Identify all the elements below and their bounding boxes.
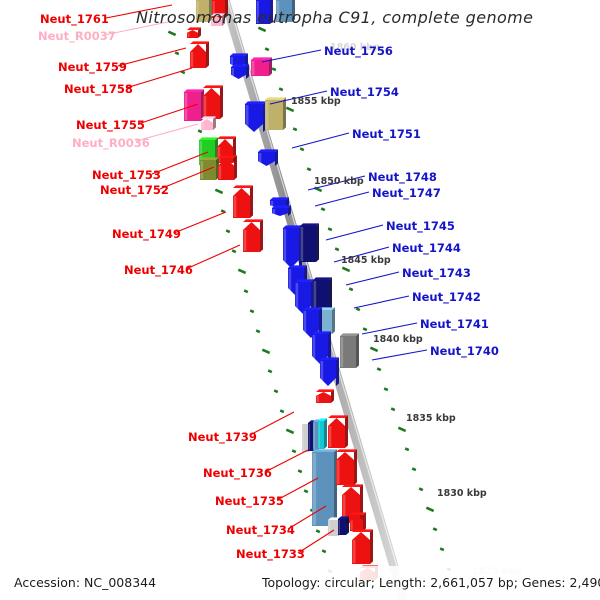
ruler-tick: [274, 389, 279, 393]
ruler-tick: [419, 487, 424, 491]
ruler-tick: [262, 348, 270, 354]
gene-label-neut_1761[interactable]: Neut_1761: [40, 12, 109, 26]
gene-label-neut_1755[interactable]: Neut_1755: [76, 118, 145, 132]
gene-label-neut_1734[interactable]: Neut_1734: [226, 523, 295, 537]
ruler-tick: [384, 387, 389, 391]
gene-label-neut_1742[interactable]: Neut_1742: [412, 290, 481, 304]
label-leader-line: [126, 68, 192, 88]
gene-label-neut_1751[interactable]: Neut_1751: [352, 127, 421, 141]
gene-label-neut_r0036[interactable]: Neut_R0036: [72, 136, 150, 150]
ruler-tick: [298, 469, 303, 473]
gene-glyph[interactable]: [300, 223, 319, 262]
ruler-tick: [370, 346, 378, 352]
ruler-tick: [335, 247, 340, 251]
ruler-position-label: 1835 kbp: [406, 413, 456, 424]
label-leader-line: [118, 48, 186, 66]
gene-label-neut_1753[interactable]: Neut_1753: [92, 168, 161, 182]
gene-glyph[interactable]: [312, 449, 337, 526]
gene-glyph[interactable]: [187, 27, 201, 38]
ruler-tick: [440, 547, 445, 551]
ruler-tick: [412, 467, 417, 471]
ruler-tick: [377, 367, 382, 371]
gene-label-neut_1752[interactable]: Neut_1752: [100, 183, 169, 197]
gene-label-neut_1759[interactable]: Neut_1759: [58, 60, 127, 74]
ruler-tick: [363, 327, 368, 331]
gene-label-neut_1756[interactable]: Neut_1756: [324, 44, 393, 58]
gene-label-neut_1745[interactable]: Neut_1745: [386, 219, 455, 233]
ruler-tick: [232, 249, 237, 253]
ruler-tick: [244, 289, 249, 293]
ruler-tick: [286, 428, 294, 434]
gene-label-neut_1733[interactable]: Neut_1733: [236, 547, 305, 561]
label-leader-line: [174, 212, 226, 233]
ruler-tick: [322, 549, 327, 553]
ruler-tick: [226, 229, 231, 233]
label-leader-line: [186, 245, 240, 269]
gene-label-neut_1743[interactable]: Neut_1743: [402, 266, 471, 280]
ruler-tick: [293, 127, 298, 131]
ruler-tick: [268, 369, 273, 373]
gene-glyph[interactable]: [203, 85, 223, 119]
gene-glyph[interactable]: [258, 149, 278, 166]
gene-glyph[interactable]: [320, 357, 339, 386]
label-leader-line: [372, 350, 427, 360]
ruler-tick: [304, 489, 309, 493]
ruler-position-label: 1850 kbp: [314, 176, 364, 187]
gene-glyph[interactable]: [231, 64, 249, 79]
gene-glyph[interactable]: [201, 116, 216, 130]
label-leader-line: [315, 192, 369, 206]
ruler-position-label: 1845 kbp: [341, 255, 391, 266]
label-leader-line: [346, 272, 399, 285]
label-leader-line: [292, 133, 349, 148]
ruler-tick: [238, 268, 246, 274]
ruler-tick: [426, 506, 434, 512]
ruler-position-label: 1840 kbp: [373, 334, 423, 345]
gene-glyph[interactable]: [272, 205, 291, 216]
label-leader-line: [326, 225, 383, 240]
ruler-tick: [398, 426, 406, 432]
gene-glyph[interactable]: [233, 185, 253, 218]
ruler-tick: [258, 26, 266, 32]
gene-glyph[interactable]: [243, 219, 263, 252]
gene-label-neut_1747[interactable]: Neut_1747: [372, 186, 441, 200]
ruler-tick: [175, 51, 180, 55]
accession-text: Accession: NC_008344: [14, 575, 156, 590]
gene-label-neut_1739[interactable]: Neut_1739: [188, 430, 257, 444]
ruler-tick: [272, 67, 277, 71]
gene-glyph[interactable]: [338, 516, 349, 535]
gene-glyph[interactable]: [336, 449, 357, 485]
gene-label-neut_1740[interactable]: Neut_1740: [430, 344, 499, 358]
ruler-tick: [215, 188, 223, 194]
ruler-tick: [307, 167, 312, 171]
gene-glyph[interactable]: [283, 225, 302, 268]
genome-stats-text: Topology: circular; Length: 2,661,057 bp…: [262, 575, 600, 590]
gene-label-neut_1741[interactable]: Neut_1741: [420, 317, 489, 331]
ruler-tick: [342, 266, 350, 272]
ruler-tick: [405, 447, 410, 451]
ruler-tick: [168, 30, 176, 36]
status-bar: Accession: NC_008344 Topology: circular;…: [0, 566, 600, 600]
gene-glyph[interactable]: [190, 41, 209, 68]
gene-glyph[interactable]: [318, 418, 327, 449]
gene-label-neut_1735[interactable]: Neut_1735: [215, 494, 284, 508]
ruler-tick: [280, 409, 285, 413]
ruler-tick: [279, 87, 284, 91]
gene-glyph[interactable]: [313, 277, 332, 312]
ruler-tick: [321, 207, 326, 211]
ruler-tick: [328, 227, 333, 231]
gene-glyph[interactable]: [328, 415, 348, 448]
gene-label-neut_1744[interactable]: Neut_1744: [392, 241, 461, 255]
ruler-tick: [286, 106, 294, 112]
gene-label-neut_r0037[interactable]: Neut_R0037: [38, 29, 116, 43]
gene-label-neut_1736[interactable]: Neut_1736: [203, 466, 272, 480]
ruler-tick: [300, 147, 305, 151]
label-leader-line: [354, 296, 409, 308]
ruler-position-label: 1830 kbp: [437, 488, 487, 499]
genome-map-viewport[interactable]: Nitrosomonas eutropha C91, complete geno…: [0, 0, 600, 600]
gene-label-neut_1754[interactable]: Neut_1754: [330, 85, 399, 99]
ruler-tick: [292, 449, 297, 453]
gene-label-neut_1758[interactable]: Neut_1758: [64, 82, 133, 96]
label-leader-line: [362, 323, 417, 334]
ruler-tick: [250, 309, 255, 313]
label-leader-line: [262, 50, 321, 62]
gene-label-neut_1746[interactable]: Neut_1746: [124, 263, 193, 277]
page-title: Nitrosomonas eutropha C91, complete geno…: [136, 8, 533, 27]
gene-glyph[interactable]: [340, 333, 359, 368]
ruler-tick: [256, 329, 261, 333]
ruler-tick: [391, 407, 396, 411]
gene-glyph[interactable]: [352, 529, 373, 564]
ruler-tick: [349, 287, 354, 291]
ruler-tick: [265, 47, 270, 51]
ruler-tick: [433, 527, 438, 531]
ruler-tick: [316, 529, 321, 533]
gene-glyph[interactable]: [316, 389, 334, 403]
gene-label-neut_1749[interactable]: Neut_1749: [112, 227, 181, 241]
gene-label-neut_1748[interactable]: Neut_1748: [368, 170, 437, 184]
